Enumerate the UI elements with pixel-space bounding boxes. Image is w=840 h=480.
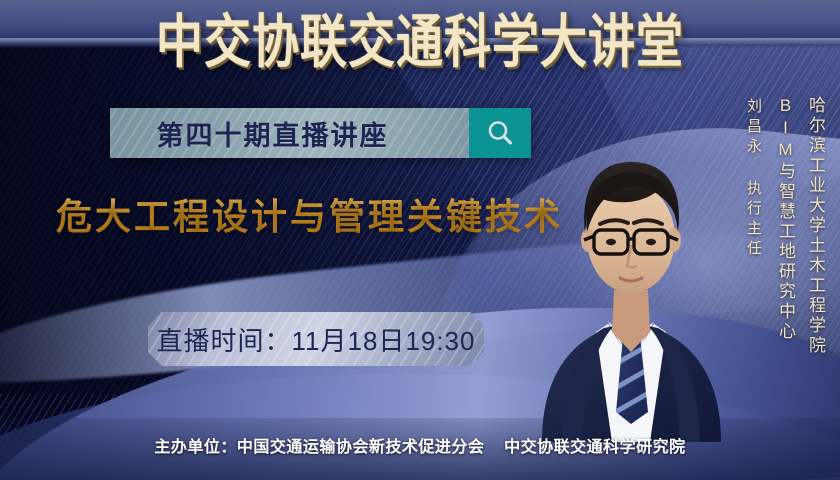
lecture-topic: 危大工程设计与管理关键技术 bbox=[56, 188, 563, 240]
speaker-portrait bbox=[538, 112, 724, 442]
organizer-footer: 主办单位：中国交通运输协会新技术促进分会 中交协联交通科学研究院 bbox=[0, 433, 840, 457]
episode-banner-fill: 第四十期直播讲座 bbox=[110, 108, 469, 158]
episode-label: 第四十期直播讲座 bbox=[110, 108, 469, 158]
schedule-text: 直播时间：11月18日19:30 bbox=[157, 321, 476, 358]
speaker-name: 刘昌永 bbox=[743, 98, 764, 158]
episode-banner: 第四十期直播讲座 bbox=[110, 108, 531, 158]
schedule-banner: 直播时间：11月18日19:30 bbox=[148, 312, 484, 366]
speaker-affiliation-school: 哈尔滨工业大学土木工程学院 bbox=[803, 96, 828, 356]
speaker-role: 执行主任 bbox=[743, 180, 764, 260]
search-icon[interactable] bbox=[469, 108, 531, 158]
page-title: 中交协联交通科学大讲堂 bbox=[0, 14, 840, 71]
webinar-poster: 中交协联交通科学大讲堂 第四十期直播讲座 危大工程设计与管理关键技术 直播时间：… bbox=[0, 0, 840, 480]
speaker-affiliation-center: BIM与智慧工地研究中心 bbox=[773, 96, 798, 342]
